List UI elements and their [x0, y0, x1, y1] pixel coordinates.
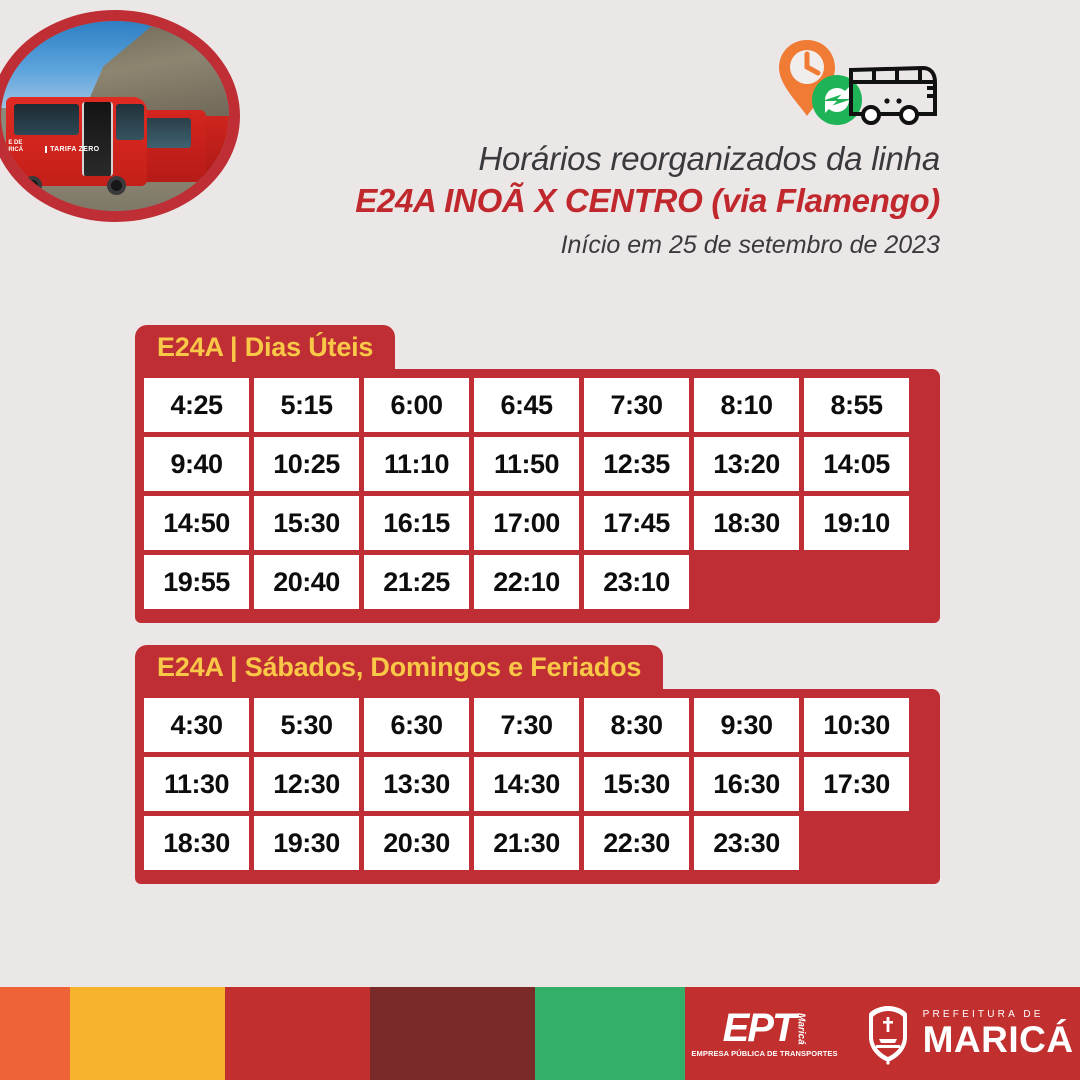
- schedule-cell[interactable]: 14:30: [474, 757, 579, 811]
- schedule-cell[interactable]: 18:30: [694, 496, 799, 550]
- schedule-cell[interactable]: 18:30: [144, 816, 249, 870]
- schedule-cell[interactable]: 9:40: [144, 437, 249, 491]
- schedule-cell[interactable]: 20:30: [364, 816, 469, 870]
- schedule-row: 11:3012:3013:3014:3015:3016:3017:30: [144, 757, 940, 816]
- schedule-cell[interactable]: 4:25: [144, 378, 249, 432]
- schedule-cell[interactable]: 19:55: [144, 555, 249, 609]
- footer-stripe: [535, 987, 685, 1080]
- footer-stripe: [370, 987, 535, 1080]
- schedule-cell[interactable]: 5:15: [254, 378, 359, 432]
- header-line-route: E24A INOÃ X CENTRO (via Flamengo): [220, 182, 940, 220]
- schedule-cell[interactable]: 14:05: [804, 437, 909, 491]
- schedule-row: 4:305:306:307:308:309:3010:30: [144, 698, 940, 757]
- bus-photo-circle: E DERICÁ TARIFA ZERO: [0, 10, 240, 222]
- marica-coat-of-arms: [862, 1003, 914, 1065]
- footer-stripe: [0, 987, 70, 1080]
- schedule-cell[interactable]: 19:10: [804, 496, 909, 550]
- schedule-cell[interactable]: 17:45: [584, 496, 689, 550]
- schedule-weekend-tab-label: E24A | Sábados, Domingos e Feriados: [135, 645, 663, 689]
- schedule-cell[interactable]: 10:25: [254, 437, 359, 491]
- schedule-cell[interactable]: 7:30: [584, 378, 689, 432]
- schedule-cell-empty: [804, 816, 909, 870]
- schedule-cell[interactable]: 19:30: [254, 816, 359, 870]
- prefeitura-large-text: MARICÁ: [923, 1021, 1074, 1058]
- schedule-cell[interactable]: 7:30: [474, 698, 579, 752]
- schedule-weekdays: E24A | Dias Úteis 4:255:156:006:457:308:…: [135, 325, 940, 623]
- ept-logo-city: Maricá: [795, 1013, 806, 1045]
- ept-logo-word: EPT: [723, 1009, 795, 1047]
- header-icon-group: [775, 38, 955, 143]
- schedule-cell[interactable]: 10:30: [804, 698, 909, 752]
- schedule-cell[interactable]: 20:40: [254, 555, 359, 609]
- schedule-cell[interactable]: 9:30: [694, 698, 799, 752]
- schedule-cell[interactable]: 13:30: [364, 757, 469, 811]
- schedule-row: 18:3019:3020:3021:3022:3023:30: [144, 816, 940, 875]
- prefeitura-logo: PREFEITURA DE MARICÁ: [862, 1003, 1074, 1065]
- schedule-cell[interactable]: 8:30: [584, 698, 689, 752]
- schedule-cell[interactable]: 6:30: [364, 698, 469, 752]
- schedule-row: 4:255:156:006:457:308:108:55: [144, 378, 940, 437]
- schedule-row: 9:4010:2511:1011:5012:3513:2014:05: [144, 437, 940, 496]
- schedule-cell[interactable]: 12:30: [254, 757, 359, 811]
- schedule-weekend-grid: 4:305:306:307:308:309:3010:3011:3012:301…: [135, 689, 940, 884]
- ept-logo: EPT Maricá EMPRESA PÚBLICA DE TRANSPORTE…: [691, 1009, 837, 1058]
- schedule-cell[interactable]: 17:30: [804, 757, 909, 811]
- schedule-cell[interactable]: 22:10: [474, 555, 579, 609]
- schedule-row: 19:5520:4021:2522:1023:10: [144, 555, 940, 614]
- schedule-cell[interactable]: 5:30: [254, 698, 359, 752]
- photo-bus-marica-text: E DERICÁ: [8, 140, 23, 155]
- photo-bus-1: E DERICÁ TARIFA ZERO: [6, 97, 147, 186]
- schedule-cell[interactable]: 6:00: [364, 378, 469, 432]
- schedule-cell[interactable]: 16:15: [364, 496, 469, 550]
- schedule-weekdays-tab-label: E24A | Dias Úteis: [135, 325, 395, 369]
- photo-bus-1-window: [14, 104, 79, 134]
- schedule-cell-empty: [804, 555, 909, 609]
- schedule-cell[interactable]: 6:45: [474, 378, 579, 432]
- schedule-cell[interactable]: 11:10: [364, 437, 469, 491]
- schedule-weekend: E24A | Sábados, Domingos e Feriados 4:30…: [135, 645, 940, 884]
- schedule-cell[interactable]: 11:50: [474, 437, 579, 491]
- prefeitura-text: PREFEITURA DE MARICÁ: [923, 1009, 1074, 1058]
- schedule-cell[interactable]: 23:30: [694, 816, 799, 870]
- bus-photo-inner: E DERICÁ TARIFA ZERO: [1, 21, 229, 211]
- bus-icon: [851, 68, 935, 123]
- footer: EPT Maricá EMPRESA PÚBLICA DE TRANSPORTE…: [0, 987, 1080, 1080]
- header-line-1: Horários reorganizados da linha: [220, 140, 940, 178]
- footer-stripe: [225, 987, 370, 1080]
- schedule-cell[interactable]: 14:50: [144, 496, 249, 550]
- schedule-cell[interactable]: 4:30: [144, 698, 249, 752]
- ept-logo-main: EPT Maricá: [723, 1009, 807, 1047]
- schedule-cell-empty: [694, 555, 799, 609]
- photo-bus-wheel-front: [23, 176, 42, 195]
- schedule-cell[interactable]: 8:10: [694, 378, 799, 432]
- schedule-cell[interactable]: 15:30: [254, 496, 359, 550]
- schedule-cell[interactable]: 22:30: [584, 816, 689, 870]
- footer-stripe: [70, 987, 225, 1080]
- schedule-cell[interactable]: 21:30: [474, 816, 579, 870]
- schedule-cell[interactable]: 16:30: [694, 757, 799, 811]
- bus-icon-dots: [884, 98, 901, 103]
- schedule-cell[interactable]: 21:25: [364, 555, 469, 609]
- schedule-cell[interactable]: 13:20: [694, 437, 799, 491]
- schedule-cell[interactable]: 8:55: [804, 378, 909, 432]
- schedule-weekdays-grid: 4:255:156:006:457:308:108:559:4010:2511:…: [135, 369, 940, 623]
- photo-bus-1-door: [82, 102, 113, 175]
- schedule-cell[interactable]: 23:10: [584, 555, 689, 609]
- header-text-block: Horários reorganizados da linha E24A INO…: [220, 140, 940, 260]
- footer-logos: EPT Maricá EMPRESA PÚBLICA DE TRANSPORTE…: [685, 987, 1080, 1080]
- schedule-cell[interactable]: 12:35: [584, 437, 689, 491]
- header-line-start-date: Início em 25 de setembro de 2023: [220, 231, 940, 260]
- photo-bus-tarifa-zero-text: TARIFA ZERO: [45, 146, 99, 153]
- schedule-cell[interactable]: 11:30: [144, 757, 249, 811]
- photo-bus-1-windshield: [116, 104, 144, 140]
- schedule-cell[interactable]: 15:30: [584, 757, 689, 811]
- schedule-cell[interactable]: 17:00: [474, 496, 579, 550]
- schedule-row: 14:5015:3016:1517:0017:4518:3019:10: [144, 496, 940, 555]
- ept-logo-tagline: EMPRESA PÚBLICA DE TRANSPORTES: [691, 1049, 837, 1058]
